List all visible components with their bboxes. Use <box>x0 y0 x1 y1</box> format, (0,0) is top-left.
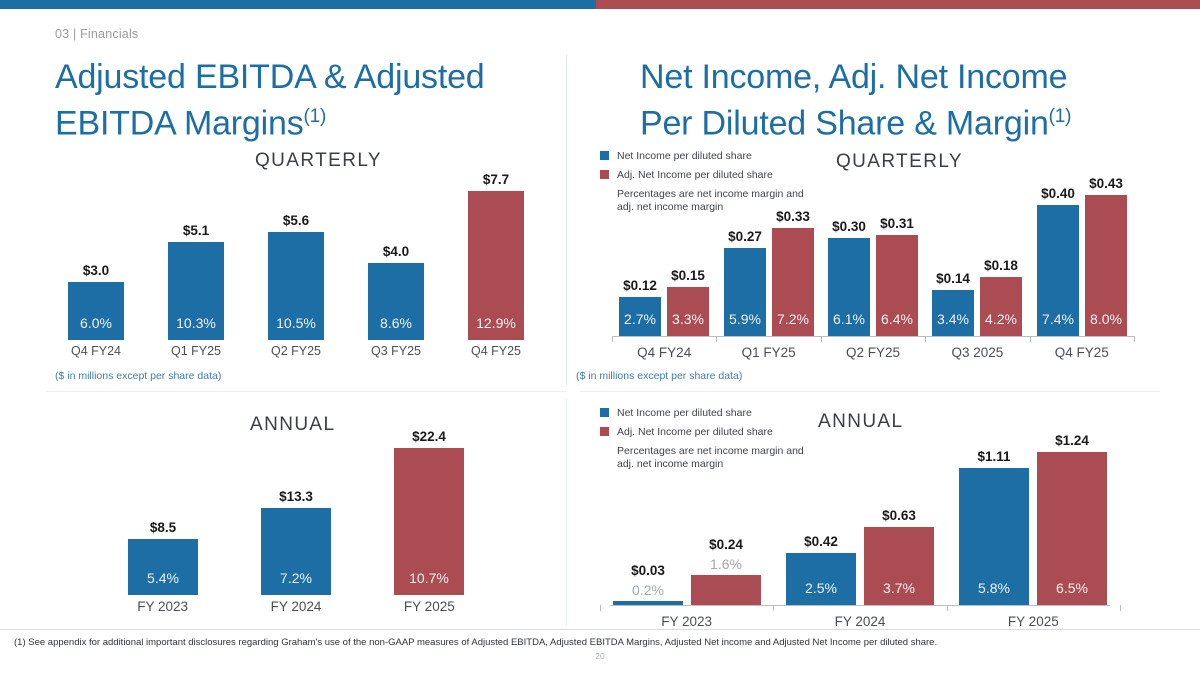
bar-value-label: $4.0 <box>383 244 409 259</box>
category-label: Q4 FY24 <box>612 345 716 360</box>
x-axis-tick <box>612 336 613 342</box>
category-label: Q4 FY24 <box>46 344 146 358</box>
category-label: Q2 FY25 <box>821 345 925 360</box>
bar: $0.030.2% <box>613 601 683 605</box>
bar-margin-label: 2.5% <box>805 580 837 605</box>
page-title-left: Adjusted EBITDA & Adjusted EBITDA Margin… <box>55 58 525 143</box>
bar-value-label: $22.4 <box>412 429 446 444</box>
x-axis-tick <box>716 336 717 342</box>
bar-value-label: $5.1 <box>183 223 209 238</box>
bar-value-label: $3.0 <box>83 263 109 278</box>
bar-margin-label: 10.5% <box>276 315 316 340</box>
category-label: Q4 FY25 <box>1030 345 1134 360</box>
x-axis-tick <box>947 605 948 611</box>
bar: $13.37.2% <box>261 508 331 595</box>
bar-margin-label: 7.2% <box>777 311 809 336</box>
x-axis-tick <box>1120 605 1121 611</box>
bar-value-label: $0.63 <box>882 508 916 523</box>
chart-ebitda-annual: $8.55.4%FY 2023$13.37.2%FY 2024$22.410.7… <box>96 420 496 620</box>
x-axis-tick <box>773 605 774 611</box>
bar-margin-label: 6.5% <box>1056 580 1088 605</box>
bar-value-label: $0.14 <box>936 271 970 286</box>
x-axis-line <box>612 336 1134 337</box>
bar-margin-label: 3.7% <box>883 580 915 605</box>
chart-netincome-quarterly: $0.122.7%$0.153.3%Q4 FY24$0.275.9%$0.337… <box>612 170 1134 360</box>
bar-margin-label: 8.0% <box>1090 311 1122 336</box>
bar: $5.610.5% <box>268 232 324 340</box>
bar-value-label: $1.24 <box>1055 433 1089 448</box>
bar-margin-label: 6.4% <box>881 311 913 336</box>
x-axis-tick <box>600 605 601 611</box>
footnote-divider <box>0 629 1200 630</box>
page-number: 20 <box>0 651 1200 661</box>
bar-margin-label: 3.3% <box>672 311 704 336</box>
legend-item-net-income: Net Income per diluted share <box>600 148 807 164</box>
bar-value-label: $0.27 <box>728 229 762 244</box>
page-title-right: Net Income, Adj. Net Income Per Diluted … <box>640 58 1120 143</box>
category-label: FY 2024 <box>773 614 946 629</box>
bar-value-label: $5.6 <box>283 213 309 228</box>
page-title-right-superscript: (1) <box>1049 106 1072 127</box>
caption-left: ($ in millions except per share data) <box>55 370 221 382</box>
bar: $0.306.1% <box>828 238 870 336</box>
category-label: FY 2023 <box>96 599 229 614</box>
top-accent-bar <box>0 0 1200 9</box>
legend-label-net-income: Net Income per diluted share <box>617 148 752 164</box>
bar-margin-label: 0.2% <box>632 582 664 598</box>
horizontal-divider-left <box>46 391 566 392</box>
category-label: FY 2024 <box>229 599 362 614</box>
bar-margin-label: 1.6% <box>710 556 742 572</box>
bar-margin-label: 10.3% <box>176 315 216 340</box>
bar-value-label: $1.11 <box>977 449 1010 464</box>
bar: $0.422.5% <box>786 553 856 605</box>
bar: $7.712.9% <box>468 191 524 340</box>
bar-value-label: $13.3 <box>279 489 313 504</box>
chart-netincome-annual: $0.030.2%$0.241.6%FY 2023$0.422.5%$0.633… <box>600 415 1120 625</box>
bar: $1.115.8% <box>959 468 1029 605</box>
vertical-divider-top <box>566 55 567 385</box>
bar-value-label: $0.33 <box>776 209 810 224</box>
category-label: Q3 FY25 <box>346 344 446 358</box>
bar: $0.633.7% <box>864 527 934 605</box>
bar: $3.06.0% <box>68 282 124 340</box>
bar: $0.184.2% <box>980 277 1022 336</box>
slide: 03 | Financials Adjusted EBITDA & Adjust… <box>0 0 1200 675</box>
horizontal-divider-right <box>580 391 1160 392</box>
category-label: Q4 FY25 <box>446 344 546 358</box>
bar: $4.08.6% <box>368 263 424 340</box>
bar-margin-label: 5.9% <box>729 311 761 336</box>
x-axis-tick <box>925 336 926 342</box>
bar: $0.143.4% <box>932 290 974 336</box>
bar-value-label: $0.24 <box>709 537 743 552</box>
bar: $0.316.4% <box>876 235 918 336</box>
category-label: Q3 2025 <box>925 345 1029 360</box>
bar-value-label: $0.12 <box>623 278 657 293</box>
top-accent-bar-red <box>596 0 1200 9</box>
x-axis-tick <box>821 336 822 342</box>
bar-value-label: $8.5 <box>150 520 176 535</box>
bar-margin-label: 4.2% <box>985 311 1017 336</box>
category-label: Q1 FY25 <box>716 345 820 360</box>
bar-value-label: $0.42 <box>804 534 838 549</box>
bar: $22.410.7% <box>394 448 464 595</box>
bar: $8.55.4% <box>128 539 198 595</box>
footnote-text: (1) See appendix for additional importan… <box>14 637 937 648</box>
bar-margin-label: 7.2% <box>280 570 312 595</box>
bar-value-label: $0.30 <box>832 219 866 234</box>
bar-margin-label: 5.4% <box>147 570 179 595</box>
bar-margin-label: 10.7% <box>409 570 449 595</box>
x-axis-tick <box>1134 336 1135 342</box>
bar-value-label: $7.7 <box>483 172 509 187</box>
category-label: Q1 FY25 <box>146 344 246 358</box>
caption-right: ($ in millions except per share data) <box>576 370 742 382</box>
bar: $0.407.4% <box>1037 205 1079 336</box>
vertical-divider-bottom <box>566 398 567 626</box>
x-axis-line <box>610 605 1110 606</box>
category-label: Q2 FY25 <box>246 344 346 358</box>
page-title-right-text: Net Income, Adj. Net Income Per Diluted … <box>640 58 1067 142</box>
legend-swatch-blue-icon <box>600 151 609 160</box>
bar-value-label: $0.43 <box>1089 176 1123 191</box>
bar-value-label: $0.15 <box>671 268 705 283</box>
bar-margin-label: 7.4% <box>1042 311 1074 336</box>
bar-margin-label: 6.1% <box>833 311 865 336</box>
bar-value-label: $0.18 <box>984 258 1018 273</box>
bar: $1.246.5% <box>1037 452 1107 605</box>
chart-heading-ebitda-quarterly: QUARTERLY <box>255 150 382 172</box>
bar: $5.110.3% <box>168 242 224 340</box>
bar: $0.153.3% <box>667 287 709 336</box>
legend-swatch-red-icon <box>600 170 609 179</box>
bar-margin-label: 2.7% <box>624 311 656 336</box>
bar: $0.438.0% <box>1085 195 1127 336</box>
bar-margin-label: 8.6% <box>380 315 412 340</box>
page-title-left-text: Adjusted EBITDA & Adjusted EBITDA Margin… <box>55 58 485 142</box>
bar: $0.275.9% <box>724 248 766 336</box>
bar-value-label: $0.40 <box>1041 186 1075 201</box>
bar: $0.241.6% <box>691 575 761 605</box>
chart-ebitda-quarterly: $3.06.0%Q4 FY24$5.110.3%Q1 FY25$5.610.5%… <box>46 170 546 360</box>
bar-margin-label: 12.9% <box>476 315 516 340</box>
category-label: FY 2025 <box>363 599 496 614</box>
bar-value-label: $0.31 <box>880 216 914 231</box>
bar: $0.122.7% <box>619 297 661 336</box>
bar-value-label: $0.03 <box>631 563 665 578</box>
bar-margin-label: 5.8% <box>978 580 1010 605</box>
x-axis-tick <box>1030 336 1031 342</box>
page-title-left-superscript: (1) <box>304 106 327 127</box>
bar: $0.337.2% <box>772 228 814 336</box>
bar-margin-label: 3.4% <box>937 311 969 336</box>
category-label: FY 2023 <box>600 614 773 629</box>
top-accent-bar-blue <box>0 0 596 9</box>
bar-margin-label: 6.0% <box>80 315 112 340</box>
category-label: FY 2025 <box>947 614 1120 629</box>
breadcrumb: 03 | Financials <box>55 27 138 41</box>
